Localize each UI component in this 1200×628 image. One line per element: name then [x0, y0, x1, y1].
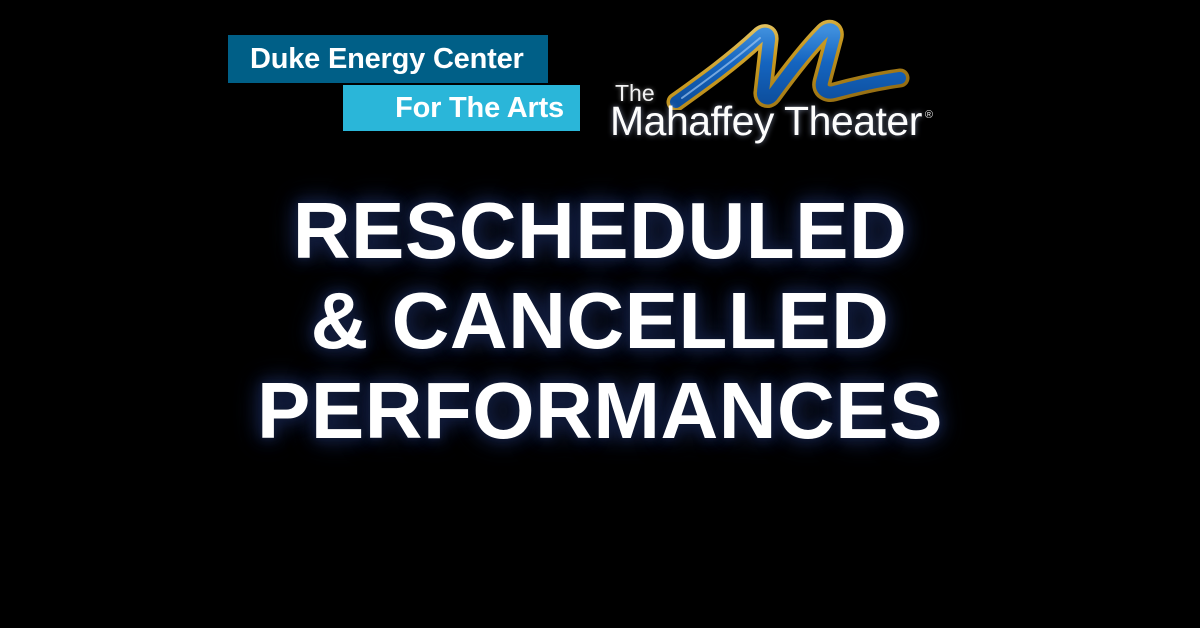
registered-trademark-icon: ®	[925, 110, 933, 121]
mahaffey-title-text: Mahaffey Theater	[610, 98, 922, 145]
duke-energy-center-logo: Duke Energy Center For The Arts	[228, 35, 584, 133]
headline-line-3: PERFORMANCES	[0, 366, 1200, 456]
duke-energy-center-line2-text: For The Arts	[395, 92, 564, 125]
duke-energy-center-line1-bar: Duke Energy Center	[228, 35, 548, 83]
poster-canvas: Duke Energy Center For The Arts	[0, 0, 1200, 628]
page-title: RESCHEDULED & CANCELLED PERFORMANCES	[0, 186, 1200, 456]
mahaffey-title-row: Mahaffey Theater ®	[610, 98, 933, 145]
headline-line-2: & CANCELLED	[0, 276, 1200, 366]
duke-energy-center-line2-bar: For The Arts	[343, 85, 580, 131]
mahaffey-theater-logo: The Mahaffey Theater ®	[606, 18, 926, 140]
duke-energy-center-line1-text: Duke Energy Center	[250, 43, 524, 76]
mahaffey-m-swoosh-icon	[664, 18, 914, 110]
headline-line-1: RESCHEDULED	[0, 186, 1200, 276]
